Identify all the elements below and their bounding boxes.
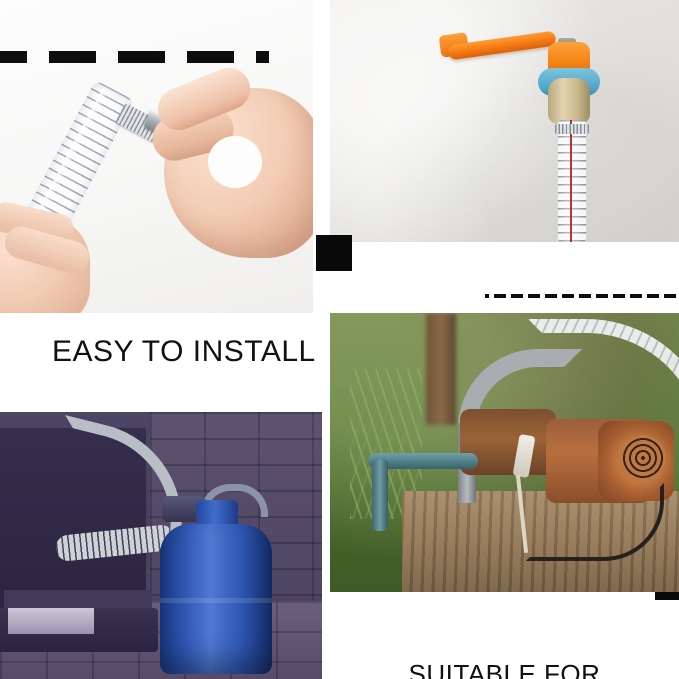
dash-segment — [256, 51, 269, 63]
background-tree-trunk — [426, 313, 456, 425]
hose-red-stripe — [570, 120, 572, 242]
dash-segment — [0, 51, 27, 63]
collage-canvas: EASY TO INSTALL SUITABLE FOR VARIOUS INT… — [0, 0, 679, 679]
dash-segment — [664, 294, 676, 298]
dash-segment — [187, 51, 234, 63]
right-dashed-rule — [485, 294, 679, 298]
blue-gas-cylinder-photo — [0, 412, 322, 679]
caption-easy-to-install: EASY TO INSTALL — [52, 334, 316, 370]
center-black-square — [316, 235, 352, 271]
dash-segment — [630, 294, 642, 298]
caption-line-1: SUITABLE FOR — [330, 660, 679, 679]
dash-segment — [562, 294, 574, 298]
dash-segment — [118, 51, 165, 63]
right-hand-gap — [208, 136, 262, 188]
rusty-water-pump-photo — [330, 313, 679, 592]
clear-hose-on-valve — [558, 120, 586, 242]
dash-segment — [494, 294, 506, 298]
valve-hose-clamp — [555, 124, 589, 134]
cylinder-highlight-band — [160, 598, 272, 603]
bottom-right-black-bar — [655, 592, 679, 600]
white-wall — [330, 0, 679, 242]
dash-segment — [485, 294, 489, 298]
orange-ball-valve-photo — [330, 0, 679, 242]
pump-vent-grille — [620, 435, 666, 481]
dash-segment — [647, 294, 659, 298]
pump-inlet-downpipe — [372, 459, 388, 531]
right-hand — [150, 78, 313, 278]
dash-segment — [613, 294, 625, 298]
brass-valve-body — [548, 78, 590, 124]
dash-segment — [579, 294, 591, 298]
grill-shelf — [4, 590, 152, 610]
caption-suitable-for-various-interfaces: SUITABLE FOR VARIOUS INTERFACES — [330, 602, 679, 679]
dash-segment — [49, 51, 96, 63]
top-dashed-rule — [0, 51, 269, 63]
dash-segment — [596, 294, 608, 298]
dash-segment — [545, 294, 557, 298]
dash-segment — [528, 294, 540, 298]
grill-lower-panel — [8, 608, 94, 634]
dash-segment — [511, 294, 523, 298]
hands-installing-hose-photo — [0, 0, 313, 313]
left-hand — [0, 208, 110, 313]
